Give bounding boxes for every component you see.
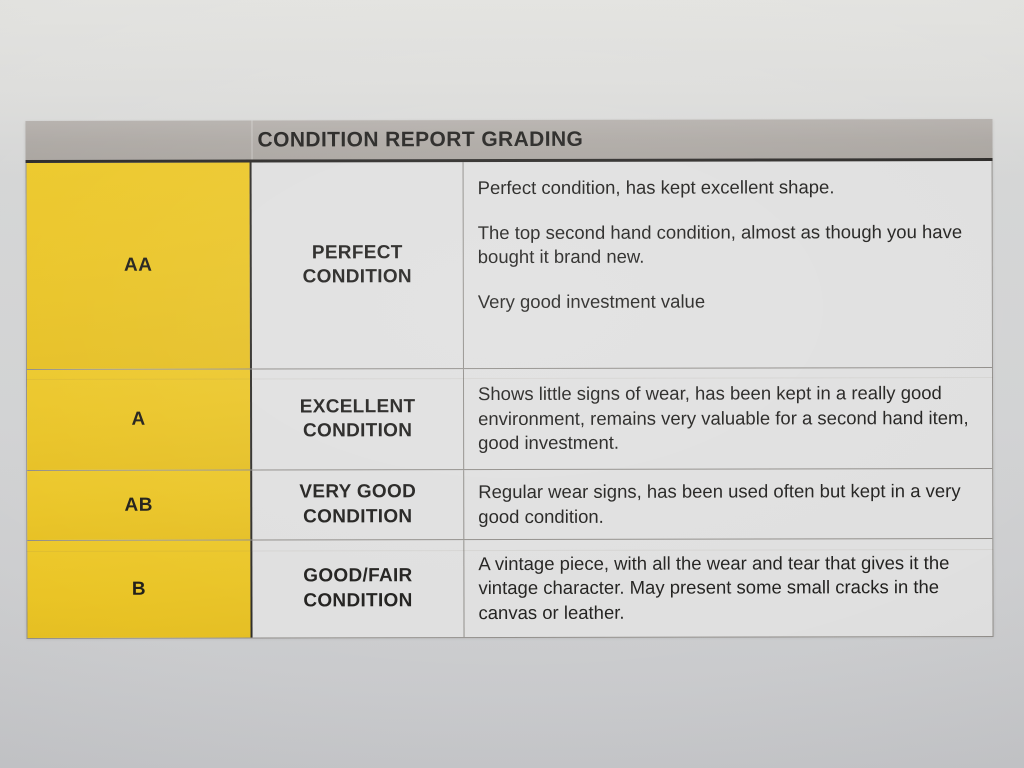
condition-name-line-2: CONDITION xyxy=(303,265,412,290)
condition-name-line-2: CONDITION xyxy=(303,589,412,614)
table-row: B GOOD/FAIR CONDITION A vintage piece, w… xyxy=(27,539,992,638)
condition-name-cell: GOOD/FAIR CONDITION xyxy=(252,540,464,637)
description-cell: Shows little signs of wear, has been kep… xyxy=(464,368,992,469)
description-paragraph: The top second hand condition, almost as… xyxy=(478,220,974,270)
grade-code-cell: A xyxy=(27,370,252,470)
photographed-page: CONDITION REPORT GRADING AA PERFECT COND… xyxy=(0,0,1024,768)
description-cell: Regular wear signs, has been used often … xyxy=(464,469,992,539)
table-row: A EXCELLENT CONDITION Shows little signs… xyxy=(27,368,992,471)
condition-name-line-1: VERY GOOD xyxy=(299,480,416,505)
condition-name-line-1: EXCELLENT xyxy=(300,395,416,420)
condition-name-cell: PERFECT CONDITION xyxy=(252,162,464,368)
condition-name-cell: EXCELLENT CONDITION xyxy=(252,369,464,469)
condition-name-line-2: CONDITION xyxy=(303,419,412,444)
grade-code-cell: B xyxy=(27,541,252,638)
condition-name-line-1: GOOD/FAIR xyxy=(303,564,412,589)
grade-code-cell: AA xyxy=(27,163,252,369)
condition-name-line-1: PERFECT xyxy=(312,241,403,266)
description-cell: A vintage piece, with all the wear and t… xyxy=(464,539,992,637)
table-row: AB VERY GOOD CONDITION Regular wear sign… xyxy=(27,469,992,541)
table-row: AA PERFECT CONDITION Perfect condition, … xyxy=(27,161,992,370)
grade-code-cell: AB xyxy=(27,471,252,540)
description-paragraph: Regular wear signs, has been used often … xyxy=(478,479,974,529)
table-header: CONDITION REPORT GRADING xyxy=(25,119,992,163)
description-paragraph: Perfect condition, has kept excellent sh… xyxy=(478,175,974,201)
table-body: AA PERFECT CONDITION Perfect condition, … xyxy=(26,161,994,639)
condition-name-cell: VERY GOOD CONDITION xyxy=(252,470,464,539)
table-title: CONDITION REPORT GRADING xyxy=(257,120,583,160)
description-paragraph: A vintage piece, with all the wear and t… xyxy=(478,551,974,626)
description-cell: Perfect condition, has kept excellent sh… xyxy=(464,161,992,368)
header-column-divider xyxy=(251,121,252,160)
condition-name-line-2: CONDITION xyxy=(303,505,412,530)
condition-grading-table: CONDITION REPORT GRADING AA PERFECT COND… xyxy=(25,119,993,638)
description-paragraph: Shows little signs of wear, has been kep… xyxy=(478,381,974,456)
description-paragraph: Very good investment value xyxy=(478,289,974,315)
